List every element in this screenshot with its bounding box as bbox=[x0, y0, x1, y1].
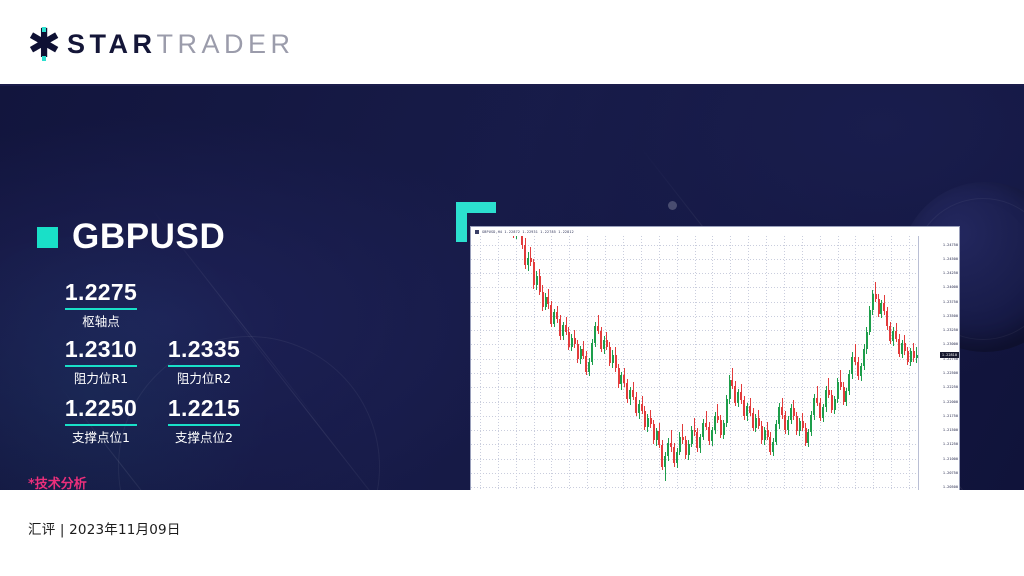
chart-candle bbox=[483, 236, 485, 490]
chart-candle bbox=[734, 236, 736, 490]
chart-candle bbox=[769, 236, 771, 490]
chart-candle bbox=[542, 236, 544, 490]
chart-candle bbox=[793, 236, 795, 490]
chart-price-axis[interactable]: 1.247501.245001.242501.240001.237501.235… bbox=[919, 236, 959, 490]
chart-candle bbox=[840, 236, 842, 490]
chart-candle bbox=[857, 236, 859, 490]
chart-title: GBPUSD,H4 1.22872 1.22931 1.22785 1.2281… bbox=[482, 230, 574, 234]
chart-candle bbox=[658, 236, 660, 490]
chart-candle bbox=[559, 236, 561, 490]
chart-candle bbox=[913, 236, 915, 490]
chart-price-tick: 1.22500 bbox=[943, 371, 958, 375]
chart-candle bbox=[533, 236, 535, 490]
chart-candle bbox=[805, 236, 807, 490]
chart-candle bbox=[854, 236, 856, 490]
chart-price-tick: 1.21000 bbox=[943, 457, 958, 461]
chart-candle bbox=[495, 236, 497, 490]
chart-candle bbox=[717, 236, 719, 490]
chart-symbol-icon bbox=[475, 230, 479, 234]
chart-candle bbox=[580, 236, 582, 490]
chart-candle bbox=[845, 236, 847, 490]
chart-candle bbox=[492, 236, 494, 490]
chart-candle bbox=[784, 236, 786, 490]
chart-candle bbox=[799, 236, 801, 490]
chart-candle bbox=[737, 236, 739, 490]
analysis-title: *技术分析 bbox=[28, 476, 400, 490]
chart-candle bbox=[501, 236, 503, 490]
chart-candle bbox=[629, 236, 631, 490]
level-pivot-value: 1.2275 bbox=[65, 279, 137, 310]
chart-candle bbox=[632, 236, 634, 490]
chart-candle bbox=[504, 236, 506, 490]
chart-candle bbox=[547, 236, 549, 490]
chart-candle bbox=[661, 236, 663, 490]
chart-candle bbox=[828, 236, 830, 490]
chart-candle bbox=[582, 236, 584, 490]
chart-candle bbox=[781, 236, 783, 490]
brand-name-light: TRADER bbox=[157, 29, 295, 59]
chart-candle bbox=[641, 236, 643, 490]
chart-candle bbox=[597, 236, 599, 490]
level-resistance2: 1.2335 阻力位R2 bbox=[140, 336, 268, 386]
chart-candle bbox=[869, 236, 871, 490]
chart-candle bbox=[550, 236, 552, 490]
chart-plot-area[interactable] bbox=[471, 236, 919, 490]
chart-candle bbox=[863, 236, 865, 490]
chart-candle bbox=[530, 236, 532, 490]
brand-logo: ✱ STARTRADER bbox=[27, 27, 295, 61]
page-header: ✱ STARTRADER bbox=[0, 0, 1024, 85]
chart-price-tick: 1.21250 bbox=[943, 442, 958, 446]
chart-candle bbox=[904, 236, 906, 490]
chart-candle bbox=[656, 236, 658, 490]
asterisk-star-icon: ✱ bbox=[27, 27, 61, 61]
chart-price-tick: 1.23250 bbox=[943, 328, 958, 332]
chart-candle bbox=[486, 236, 488, 490]
level-support1-value: 1.2250 bbox=[65, 395, 137, 426]
chart-candle bbox=[694, 236, 696, 490]
chart-candle bbox=[702, 236, 704, 490]
instrument-symbol: GBPUSD bbox=[72, 219, 225, 255]
chart-candle bbox=[603, 236, 605, 490]
chart-candle bbox=[740, 236, 742, 490]
chart-candle bbox=[723, 236, 725, 490]
level-support2: 1.2215 支撑点位2 bbox=[140, 395, 268, 445]
chart-candle bbox=[620, 236, 622, 490]
chart-candle bbox=[588, 236, 590, 490]
chart-candle bbox=[489, 236, 491, 490]
chart-price-tick: 1.20500 bbox=[943, 485, 958, 489]
chart-candle bbox=[775, 236, 777, 490]
chart-price-tick: 1.24000 bbox=[943, 285, 958, 289]
chart-price-tick: 1.22000 bbox=[943, 400, 958, 404]
chart-candle bbox=[764, 236, 766, 490]
chart-candle bbox=[746, 236, 748, 490]
level-resistance1-value: 1.2310 bbox=[65, 336, 137, 367]
chart-candle bbox=[860, 236, 862, 490]
chart-candle bbox=[880, 236, 882, 490]
chart-candle bbox=[755, 236, 757, 490]
chart-candle bbox=[591, 236, 593, 490]
chart-candle bbox=[816, 236, 818, 490]
chart-candle bbox=[568, 236, 570, 490]
chart-candle bbox=[518, 236, 520, 490]
chart-candle bbox=[515, 236, 517, 490]
chart-candle bbox=[790, 236, 792, 490]
chart-candle bbox=[527, 236, 529, 490]
chart-candle bbox=[474, 236, 476, 490]
chart-candle bbox=[664, 236, 666, 490]
chart-candle bbox=[761, 236, 763, 490]
chart-candle bbox=[574, 236, 576, 490]
chart-candle bbox=[752, 236, 754, 490]
page-footer: 汇评 | 2023年11月09日 bbox=[0, 490, 1024, 576]
level-support2-value: 1.2215 bbox=[168, 395, 240, 426]
chart-candle bbox=[477, 236, 479, 490]
chart-candle bbox=[676, 236, 678, 490]
chart-candle bbox=[807, 236, 809, 490]
technical-analysis: *技术分析 多头持仓在枢轴点以上，目标位为阻力位R1及阻力位R2。 若低于枢轴点… bbox=[28, 476, 400, 490]
chart-candle bbox=[609, 236, 611, 490]
chart-candle bbox=[653, 236, 655, 490]
chart-candle bbox=[848, 236, 850, 490]
chart-candle bbox=[825, 236, 827, 490]
chart-candle bbox=[907, 236, 909, 490]
chart-candle bbox=[778, 236, 780, 490]
chart-candle bbox=[696, 236, 698, 490]
price-chart[interactable]: GBPUSD,H4 1.22872 1.22931 1.22785 1.2281… bbox=[470, 226, 960, 490]
chart-candle bbox=[688, 236, 690, 490]
chart-candle bbox=[615, 236, 617, 490]
chart-candle bbox=[618, 236, 620, 490]
chart-candle bbox=[787, 236, 789, 490]
chart-candle bbox=[822, 236, 824, 490]
chart-candle bbox=[685, 236, 687, 490]
chart-candle bbox=[714, 236, 716, 490]
chart-candle bbox=[594, 236, 596, 490]
instrument-title: GBPUSD bbox=[37, 219, 225, 255]
chart-candle bbox=[729, 236, 731, 490]
main-panel: GBPUSD 1.2275 枢轴点 1.2310 阻力位R1 1.2335 阻力… bbox=[0, 86, 1024, 490]
chart-price-tick: 1.23750 bbox=[943, 300, 958, 304]
instrument-marker-icon bbox=[37, 227, 58, 248]
chart-candle bbox=[758, 236, 760, 490]
chart-candle bbox=[910, 236, 912, 490]
chart-candle bbox=[509, 236, 511, 490]
brand-name-bold: STAR bbox=[67, 29, 157, 59]
chart-candle bbox=[650, 236, 652, 490]
chart-candle bbox=[512, 236, 514, 490]
chart-candle bbox=[585, 236, 587, 490]
chart-candle bbox=[612, 236, 614, 490]
chart-candle bbox=[767, 236, 769, 490]
chart-candle bbox=[577, 236, 579, 490]
chart-candle bbox=[819, 236, 821, 490]
footer-caption: 汇评 | 2023年11月09日 bbox=[28, 518, 181, 538]
chart-candle bbox=[866, 236, 868, 490]
chart-candle bbox=[720, 236, 722, 490]
chart-candle bbox=[626, 236, 628, 490]
chart-candle bbox=[545, 236, 547, 490]
chart-price-tick: 1.24250 bbox=[943, 271, 958, 275]
chart-candle bbox=[872, 236, 874, 490]
brand-wordmark: STARTRADER bbox=[67, 27, 295, 61]
chart-candle bbox=[810, 236, 812, 490]
chart-candle bbox=[667, 236, 669, 490]
chart-candle bbox=[749, 236, 751, 490]
chart-candle bbox=[556, 236, 558, 490]
chart-candle bbox=[679, 236, 681, 490]
chart-candle bbox=[883, 236, 885, 490]
chart-candle bbox=[623, 236, 625, 490]
chart-candle bbox=[889, 236, 891, 490]
chart-candle bbox=[498, 236, 500, 490]
chart-candle bbox=[565, 236, 567, 490]
chart-candle bbox=[521, 236, 523, 490]
chart-candle bbox=[524, 236, 526, 490]
chart-price-tick: 1.24500 bbox=[943, 257, 958, 261]
chart-candle bbox=[644, 236, 646, 490]
level-resistance2-label: 阻力位R2 bbox=[140, 371, 268, 386]
chart-candle bbox=[834, 236, 836, 490]
chart-header: GBPUSD,H4 1.22872 1.22931 1.22785 1.2281… bbox=[471, 227, 959, 236]
chart-candle bbox=[471, 236, 473, 490]
slide-canvas: ✱ STARTRADER GBPUSD bbox=[0, 0, 1024, 576]
chart-candle bbox=[708, 236, 710, 490]
chart-candle bbox=[670, 236, 672, 490]
level-pivot-label: 枢轴点 bbox=[37, 314, 165, 329]
chart-candle bbox=[743, 236, 745, 490]
decorative-dot bbox=[668, 201, 677, 210]
chart-candle bbox=[875, 236, 877, 490]
chart-price-tick: 1.20750 bbox=[943, 471, 958, 475]
chart-price-tick: 1.24750 bbox=[943, 243, 958, 247]
level-resistance2-value: 1.2335 bbox=[168, 336, 240, 367]
chart-candle bbox=[802, 236, 804, 490]
chart-candle bbox=[553, 236, 555, 490]
chart-candle bbox=[600, 236, 602, 490]
chart-candle bbox=[635, 236, 637, 490]
chart-candle bbox=[562, 236, 564, 490]
chart-candle bbox=[638, 236, 640, 490]
chart-candle bbox=[916, 236, 918, 490]
chart-candle bbox=[726, 236, 728, 490]
chart-price-tick: 1.23500 bbox=[943, 314, 958, 318]
chart-price-tick: 1.23000 bbox=[943, 342, 958, 346]
chart-candle bbox=[878, 236, 880, 490]
chart-candle bbox=[606, 236, 608, 490]
chart-current-price-tag: 1.22810 bbox=[940, 352, 959, 358]
chart-candle bbox=[901, 236, 903, 490]
chart-candle bbox=[673, 236, 675, 490]
chart-candle bbox=[731, 236, 733, 490]
chart-candle bbox=[539, 236, 541, 490]
chart-candle bbox=[682, 236, 684, 490]
chart-candle bbox=[895, 236, 897, 490]
level-support2-label: 支撑点位2 bbox=[140, 430, 268, 445]
chart-candle bbox=[886, 236, 888, 490]
chart-candle bbox=[892, 236, 894, 490]
chart-price-tick: 1.21500 bbox=[943, 428, 958, 432]
chart-candle bbox=[851, 236, 853, 490]
level-pivot: 1.2275 枢轴点 bbox=[37, 279, 165, 329]
chart-candle bbox=[796, 236, 798, 490]
chart-candle bbox=[843, 236, 845, 490]
chart-candle bbox=[480, 236, 482, 490]
chart-candle bbox=[705, 236, 707, 490]
chart-candle bbox=[813, 236, 815, 490]
chart-candle bbox=[711, 236, 713, 490]
chart-candle bbox=[831, 236, 833, 490]
chart-price-tick: 1.22250 bbox=[943, 385, 958, 389]
chart-candle bbox=[699, 236, 701, 490]
chart-candle bbox=[536, 236, 538, 490]
chart-candle bbox=[571, 236, 573, 490]
chart-price-tick: 1.21750 bbox=[943, 414, 958, 418]
chart-candle bbox=[837, 236, 839, 490]
chart-candle bbox=[691, 236, 693, 490]
chart-candle bbox=[507, 236, 509, 490]
chart-candle bbox=[647, 236, 649, 490]
chart-candle bbox=[772, 236, 774, 490]
chart-candle bbox=[898, 236, 900, 490]
